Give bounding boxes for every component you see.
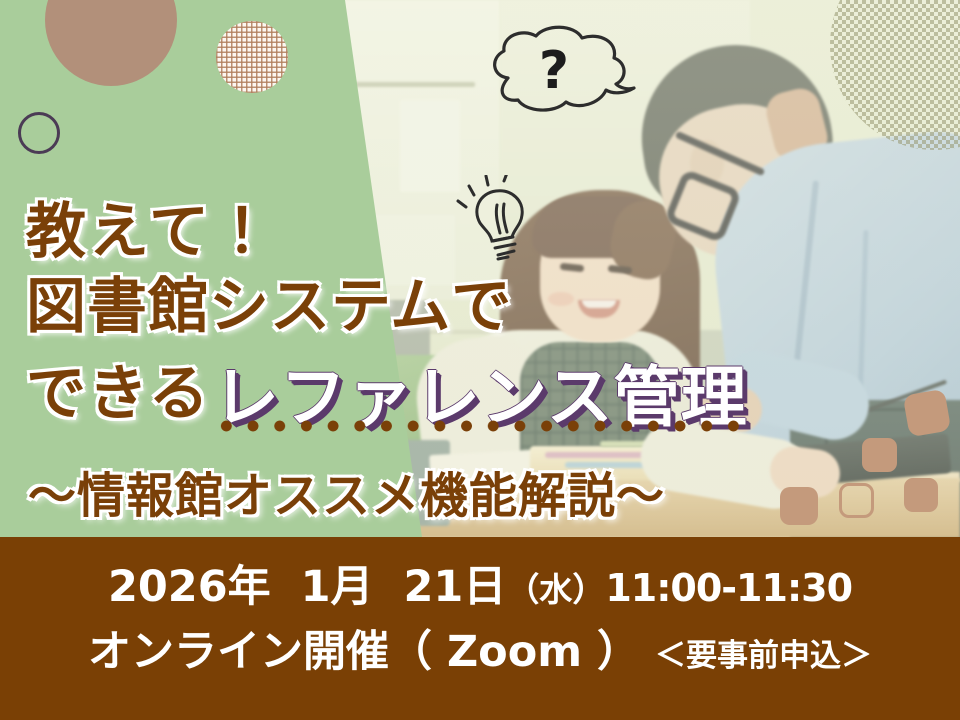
outlined-circle-decor [18,112,60,154]
rounded-square-decor [903,389,952,438]
footer-year: 2026年 [108,562,271,612]
footer-venue-line: オンライン開催（ Zoom ） ＜要事前申込＞ [0,617,960,679]
grid-circle-decor [216,21,288,93]
footer-note: ＜要事前申込＞ [655,638,872,674]
footer-time: 11:00-11:30 [605,566,852,610]
footer-venue: オンライン開催（ Zoom ） [88,627,640,677]
photo-shelf [345,82,475,87]
seminar-poster: ? 教えて！ 図書館システムで できる レファレンス管理 〜情報館オススメ機能解… [0,0,960,720]
lightbulb-icon [450,175,545,275]
thought-bubble-icon: ? [470,18,640,128]
footer-month: 1月 [301,562,374,612]
rounded-square-outline-decor [839,483,874,518]
rounded-square-decor [904,478,938,512]
footer-day: 21日 [403,562,506,612]
photo-woman-teeth [582,300,616,308]
rounded-square-decor [780,487,818,525]
svg-text:?: ? [539,41,569,101]
photo-woman-cheek [548,292,574,306]
footer-date-line: 2026年 1月 21日（水）11:00-11:30 [0,552,960,614]
rounded-square-decor [862,438,897,472]
footer-weekday: （水） [506,570,605,609]
